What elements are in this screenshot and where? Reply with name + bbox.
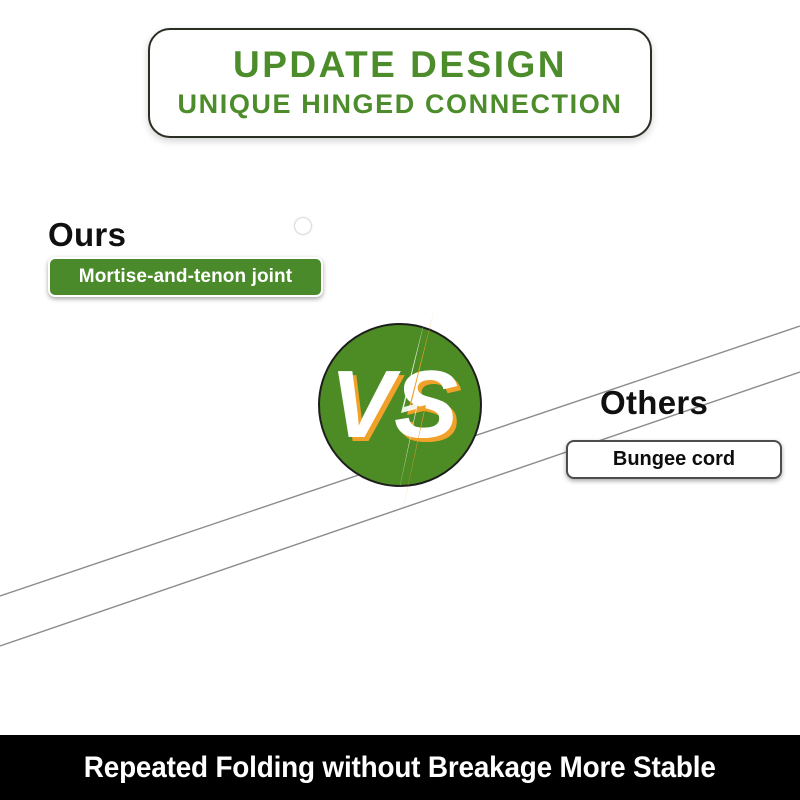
headline-primary: UPDATE DESIGN: [233, 46, 567, 85]
footer-banner: Repeated Folding without Breakage More S…: [0, 735, 800, 800]
versus-graphic: VS VS: [306, 301, 506, 521]
versus-badge: VS VS: [318, 323, 482, 487]
label-others: Others: [600, 384, 708, 422]
label-ours: Ours: [48, 216, 126, 254]
product-comparison-image: UPDATE DESIGN UNIQUE HINGED CONNECTION O…: [0, 0, 800, 800]
callout-bungee-cord-text: Bungee cord: [613, 448, 735, 471]
callout-mortise-and-tenon: Mortise-and-tenon joint: [48, 257, 323, 297]
callout-mortise-and-tenon-text: Mortise-and-tenon joint: [79, 266, 292, 288]
headline-banner: UPDATE DESIGN UNIQUE HINGED CONNECTION: [148, 28, 652, 138]
headline-secondary: UNIQUE HINGED CONNECTION: [178, 89, 623, 120]
versus-text: VS: [330, 351, 458, 458]
callout-bungee-cord: Bungee cord: [566, 440, 782, 479]
callout-dot-marker-ours: [295, 218, 311, 234]
footer-text: Repeated Folding without Breakage More S…: [84, 751, 716, 785]
